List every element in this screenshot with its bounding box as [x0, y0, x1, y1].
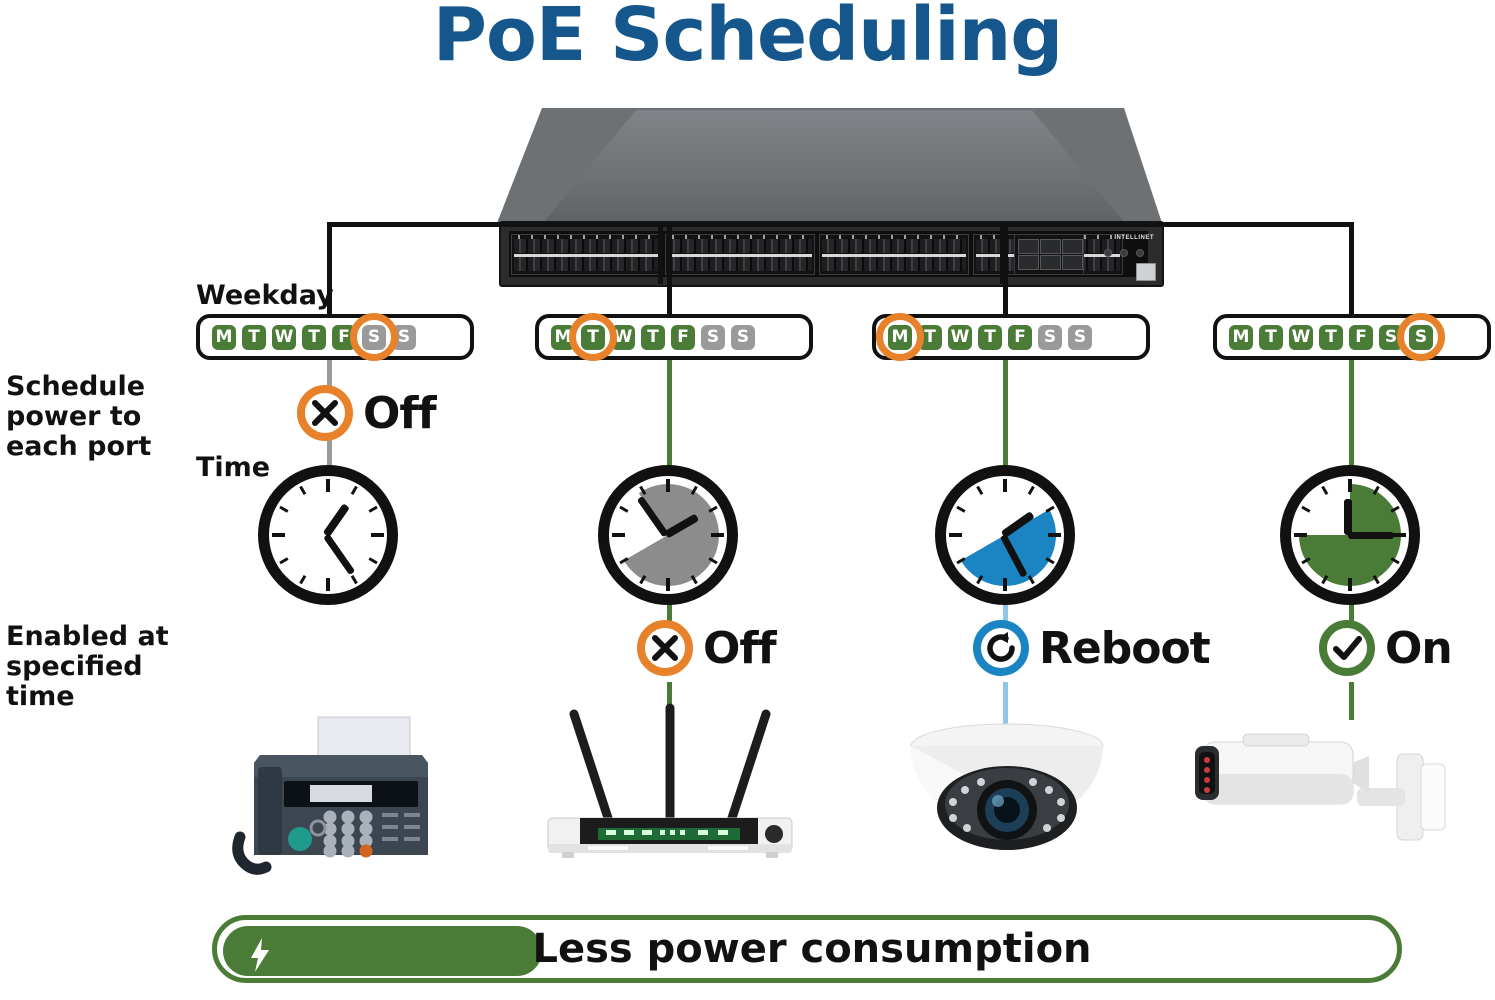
- status-led: [1120, 249, 1128, 257]
- fax-machine: [222, 715, 452, 875]
- day-chip-s-6[interactable]: S: [1409, 325, 1433, 350]
- status-label: Reboot: [1039, 623, 1210, 674]
- clock-tick: [299, 486, 306, 495]
- brand-logo: INTELLINET: [1114, 235, 1154, 241]
- day-chip-t-3[interactable]: T: [1319, 325, 1343, 350]
- day-chip-t-1[interactable]: T: [581, 325, 605, 350]
- day-chip-t-1[interactable]: T: [242, 325, 266, 350]
- clock-tick: [1003, 479, 1007, 492]
- clock-tick: [279, 506, 288, 513]
- status-led: [1104, 249, 1112, 257]
- drop-line-col3: [1003, 222, 1008, 317]
- port-bank: [511, 234, 661, 275]
- management-port: [1136, 263, 1156, 281]
- clock-tick: [368, 506, 377, 513]
- clock-minute-hand: [323, 533, 355, 575]
- bus-line-horizontal: [327, 222, 1354, 227]
- bus-line-to-switch: [658, 222, 663, 284]
- clock-tick: [350, 575, 357, 584]
- status-badge-col3[interactable]: Reboot: [973, 620, 1210, 676]
- day-chip-t-3[interactable]: T: [641, 325, 665, 350]
- drop-line-col2: [667, 222, 672, 317]
- clock-tick: [279, 557, 288, 564]
- weekday-selector-col2[interactable]: MTWTFSS: [535, 314, 813, 360]
- drop-line-col1: [327, 222, 332, 327]
- clock-tick: [326, 578, 330, 591]
- schedule-power-label: Schedule power to each port: [6, 372, 176, 463]
- day-chip-f-4[interactable]: F: [332, 325, 356, 350]
- day-chip-t-3[interactable]: T: [978, 325, 1002, 350]
- clock-tick: [299, 575, 306, 584]
- poe-scheduling-diagram: PoE Scheduling: [0, 0, 1495, 1000]
- weekday-label: Weekday: [196, 280, 334, 311]
- clock-tick: [272, 533, 285, 537]
- day-chip-w-2[interactable]: W: [1289, 325, 1313, 350]
- less-power-banner: Less power consumption: [212, 915, 1402, 983]
- banner-text: Less power consumption: [217, 920, 1407, 978]
- clock-tick: [666, 479, 670, 492]
- day-chip-s-6[interactable]: S: [731, 325, 755, 350]
- clock-col4: [1280, 465, 1420, 605]
- clock-tick: [368, 557, 377, 564]
- day-chip-w-2[interactable]: W: [272, 325, 296, 350]
- cross-icon: [637, 620, 693, 676]
- day-chip-s-6[interactable]: S: [392, 325, 416, 350]
- weekday-selector-col4[interactable]: MTWTFSS: [1213, 314, 1491, 360]
- weekday-selector-col3[interactable]: MTWTFSS: [872, 314, 1150, 360]
- clock-col1: [258, 465, 398, 605]
- day-chip-w-2[interactable]: W: [948, 325, 972, 350]
- reload-icon: [973, 620, 1029, 676]
- clock-tick: [326, 479, 330, 492]
- day-chip-s-5[interactable]: S: [362, 325, 386, 350]
- status-label: Off: [703, 623, 776, 674]
- day-chip-w-2[interactable]: W: [611, 325, 635, 350]
- enabled-at-time-label: Enabled at specified time: [6, 622, 186, 713]
- day-chip-t-3[interactable]: T: [302, 325, 326, 350]
- day-chip-t-1[interactable]: T: [1259, 325, 1283, 350]
- connector-col4-clock: [1349, 360, 1354, 470]
- time-label: Time: [196, 452, 270, 483]
- check-icon: [1319, 620, 1375, 676]
- clock-minute-hand: [1348, 532, 1394, 539]
- day-chip-s-5[interactable]: S: [1038, 325, 1062, 350]
- status-badge-col1[interactable]: Off: [297, 385, 436, 441]
- clock-tick: [1003, 578, 1007, 591]
- day-chip-m-0[interactable]: M: [551, 325, 575, 350]
- clock-hour-hand: [1344, 499, 1352, 535]
- drop-line-col4: [1349, 222, 1354, 317]
- clock-tick: [612, 533, 625, 537]
- connector-col3-clock: [1003, 360, 1008, 470]
- day-chip-f-4[interactable]: F: [671, 325, 695, 350]
- page-title: PoE Scheduling: [0, 0, 1495, 78]
- switch-front-panel: INTELLINET: [499, 221, 1164, 287]
- day-chip-m-0[interactable]: M: [212, 325, 236, 350]
- day-chip-s-6[interactable]: S: [1068, 325, 1092, 350]
- port-bank: [819, 234, 969, 275]
- clock-tick: [666, 578, 670, 591]
- clock-hour-hand: [323, 503, 350, 537]
- clock-tick: [1048, 533, 1061, 537]
- cross-icon: [297, 385, 353, 441]
- wireless-router: [540, 700, 800, 870]
- status-badge-col4[interactable]: On: [1319, 620, 1452, 676]
- clock-tick: [711, 533, 724, 537]
- switch-top-shading: [543, 110, 1125, 223]
- clock-tick: [371, 533, 384, 537]
- status-badge-col2[interactable]: Off: [637, 620, 776, 676]
- day-chip-m-0[interactable]: M: [1229, 325, 1253, 350]
- sfp-uplink-bank: [1014, 234, 1084, 275]
- day-chip-f-4[interactable]: F: [1008, 325, 1032, 350]
- day-chip-f-4[interactable]: F: [1349, 325, 1373, 350]
- day-chip-m-0[interactable]: M: [888, 325, 912, 350]
- port-bank: [665, 234, 815, 275]
- clock-tick: [1294, 533, 1307, 537]
- dome-camera: [895, 710, 1120, 870]
- status-led: [1136, 249, 1144, 257]
- weekday-selector-col1[interactable]: MTWTFSS: [196, 314, 474, 360]
- status-label: Off: [363, 388, 436, 439]
- clock-tick: [1348, 578, 1352, 591]
- clock-tick: [350, 486, 357, 495]
- clock-tick: [1393, 533, 1406, 537]
- clock-tick: [1348, 479, 1352, 492]
- bullet-camera: [1185, 712, 1455, 872]
- day-chip-s-5[interactable]: S: [1379, 325, 1403, 350]
- connector-col2-clock: [667, 360, 672, 470]
- status-label: On: [1385, 623, 1452, 674]
- day-chip-t-1[interactable]: T: [918, 325, 942, 350]
- clock-col2: [598, 465, 738, 605]
- poe-switch: INTELLINET: [497, 108, 1162, 283]
- clock-col3: [935, 465, 1075, 605]
- day-chip-s-5[interactable]: S: [701, 325, 725, 350]
- clock-tick: [949, 533, 962, 537]
